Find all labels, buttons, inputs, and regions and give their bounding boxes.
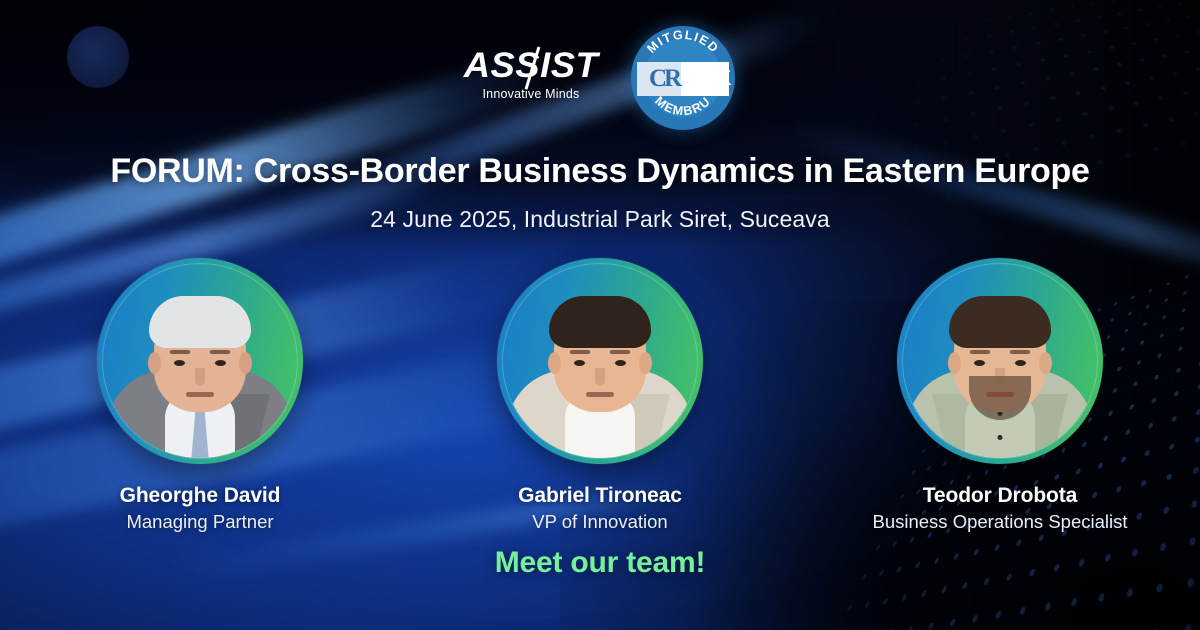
event-title: FORUM: Cross-Border Business Dynamics in… [0, 152, 1200, 191]
team-member-name: Gabriel Tironeac [518, 484, 682, 508]
team-member-role: Managing Partner [126, 511, 273, 533]
team-member-role: Business Operations Specialist [872, 511, 1127, 533]
assist-tagline: Innovative Minds [465, 87, 597, 101]
poster-content: ASSIST Innovative Minds CR AHK [0, 0, 1200, 630]
assist-logo: ASSIST Innovative Minds [465, 48, 597, 108]
poster-canvas: ASSIST Innovative Minds CR AHK [0, 0, 1200, 630]
avatar-gabriel-tironeac [497, 258, 703, 464]
team-member: Gabriel Tironeac VP of Innovation [485, 258, 715, 533]
portrait-illustration [103, 264, 297, 458]
team-member-name: Teodor Drobota [923, 484, 1078, 508]
team-list: Gheorghe David Managing Partner [0, 258, 1200, 533]
ahk-arc-text: MITGLIED MEMBRU [631, 26, 735, 130]
team-member-role: VP of Innovation [532, 511, 667, 533]
event-details: 24 June 2025, Industrial Park Siret, Suc… [0, 206, 1200, 233]
avatar-gheorghe-david [97, 258, 303, 464]
ahk-top-arc-label: MITGLIED [644, 28, 722, 56]
team-member: Gheorghe David Managing Partner [85, 258, 315, 533]
portrait-illustration [903, 264, 1097, 458]
ahk-member-badge: CR AHK MITGLIED MEMBRU [631, 26, 735, 130]
team-member-name: Gheorghe David [120, 484, 281, 508]
avatar-photo [103, 264, 297, 458]
avatar-photo [503, 264, 697, 458]
avatar-photo [903, 264, 1097, 458]
cta-text: Meet our team! [0, 546, 1200, 580]
ahk-badge-clip: CR AHK MITGLIED MEMBRU [631, 26, 735, 130]
team-member: Teodor Drobota Business Operations Speci… [885, 258, 1115, 533]
logo-row: ASSIST Innovative Minds CR AHK [0, 26, 1200, 130]
avatar-teodor-drobota [897, 258, 1103, 464]
ahk-bottom-arc-label: MEMBRU [652, 94, 713, 119]
portrait-illustration [503, 264, 697, 458]
